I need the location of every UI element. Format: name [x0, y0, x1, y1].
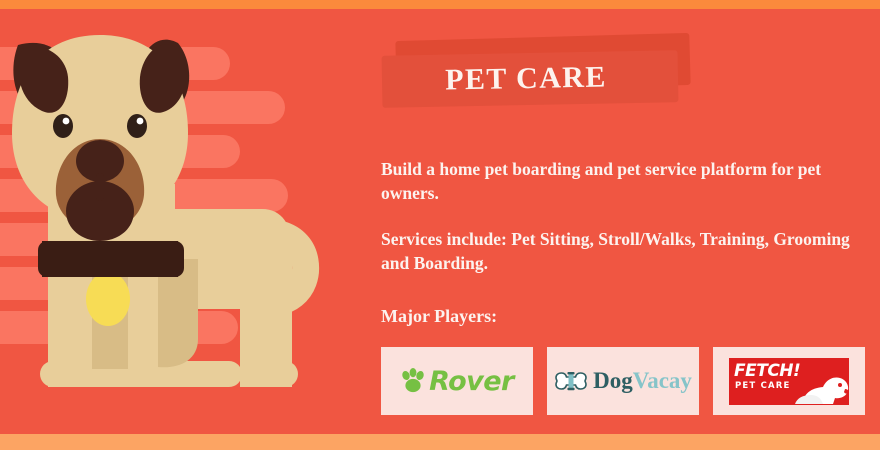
services-text: Services include: Pet Sitting, Stroll/Wa…: [381, 227, 865, 275]
dogvacay-word-two: Vacay: [633, 368, 692, 394]
logo-row: Rover DogVacay FETCH! PET CARE: [381, 347, 865, 419]
description-text: Build a home pet boarding and pet servic…: [381, 157, 865, 205]
paw-print-icon: [400, 368, 426, 394]
top-accent-bar: [0, 0, 880, 9]
rover-wordmark: Rover: [429, 366, 514, 397]
dogvacay-word-one: Dog: [593, 368, 633, 394]
logo-card-fetch[interactable]: FETCH! PET CARE We've got your tail cove…: [713, 347, 865, 415]
content-column: PET CARE Build a home pet boarding and p…: [378, 9, 878, 434]
page-title: PET CARE: [378, 50, 675, 108]
illustration-panel: [0, 9, 360, 434]
bottom-accent-bar: [0, 434, 880, 450]
pug-dog-illustration: [0, 9, 360, 434]
logo-card-rover[interactable]: Rover: [381, 347, 533, 415]
fetch-logo-card: FETCH! PET CARE We've got your tail cove…: [729, 358, 849, 405]
dog-illustration-icon: [793, 364, 849, 405]
fetch-subline: PET CARE: [735, 381, 791, 391]
title-banner: PET CARE: [378, 37, 698, 109]
logo-card-dogvacay[interactable]: DogVacay: [547, 347, 699, 415]
slide-canvas: PET CARE Build a home pet boarding and p…: [0, 0, 880, 450]
major-players-label: Major Players:: [381, 304, 865, 329]
fetch-wordmark: FETCH!: [734, 361, 800, 381]
bone-suitcase-icon: [554, 369, 588, 393]
